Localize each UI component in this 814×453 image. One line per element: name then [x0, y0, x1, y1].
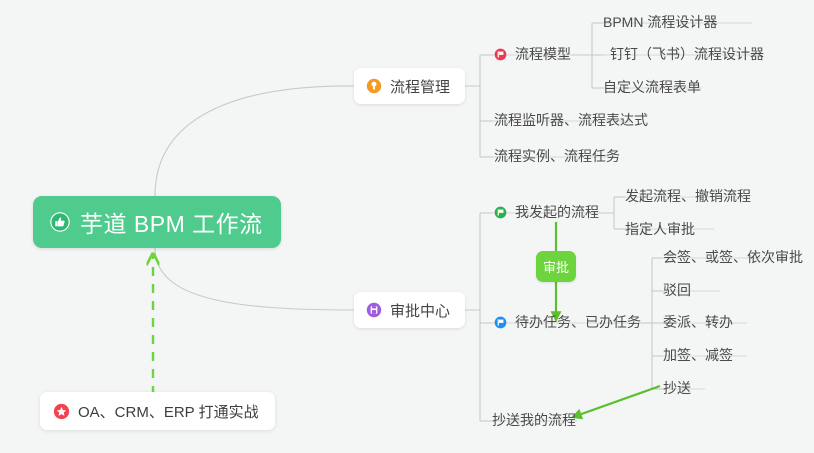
topic-label: 流程模型 [515, 47, 571, 61]
clipboard-icon [366, 302, 382, 318]
topic-label: 发起流程、撤销流程 [625, 189, 751, 203]
topic-cc-my-process[interactable]: 抄送我的流程 [492, 413, 576, 427]
topic-label: BPMN 流程设计器 [603, 15, 717, 29]
topic-process-listener-expression[interactable]: 流程监听器、流程表达式 [494, 113, 648, 127]
topic-countersign-orsign-sequential[interactable]: 会签、或签、依次审批 [663, 250, 803, 264]
branch-label-process-management: 流程管理 [390, 76, 450, 97]
topic-bpmn-designer[interactable]: BPMN 流程设计器 [603, 15, 717, 29]
flag-icon [494, 206, 507, 219]
topic-label: 钉钉（飞书）流程设计器 [610, 47, 764, 61]
topic-label: 我发起的流程 [515, 205, 599, 219]
thumbs-up-icon [50, 212, 70, 232]
branch-node-approval-center[interactable]: 审批中心 [354, 292, 465, 328]
topic-custom-process-form[interactable]: 自定义流程表单 [603, 80, 701, 94]
floating-node-integration[interactable]: OA、CRM、ERP 打通实战 [40, 392, 275, 430]
root-node[interactable]: 芋道 BPM 工作流 [33, 196, 281, 248]
flag-icon [494, 316, 507, 329]
approve-callout[interactable]: 审批 [536, 251, 576, 282]
topic-my-started-process[interactable]: 我发起的流程 [494, 205, 599, 219]
approve-callout-label: 审批 [543, 257, 569, 276]
lightbulb-icon [366, 78, 382, 94]
topic-reject[interactable]: 驳回 [663, 283, 691, 297]
topic-add-remove-sign[interactable]: 加签、减签 [663, 348, 733, 362]
flag-icon [494, 48, 507, 61]
topic-label: 自定义流程表单 [603, 80, 701, 94]
root-label: 芋道 BPM 工作流 [80, 205, 263, 239]
topic-delegate-transfer[interactable]: 委派、转办 [663, 315, 733, 329]
cc-flow-arrow [573, 386, 660, 417]
topic-cc[interactable]: 抄送 [663, 381, 691, 395]
topic-process-model[interactable]: 流程模型 [494, 47, 571, 61]
topic-todo-done-tasks[interactable]: 待办任务、已办任务 [494, 315, 641, 329]
branch-node-process-management[interactable]: 流程管理 [354, 68, 465, 104]
topic-label: 指定人审批 [625, 222, 695, 236]
topic-label: 加签、减签 [663, 348, 733, 362]
topic-process-instance-task[interactable]: 流程实例、流程任务 [494, 149, 620, 163]
branch-label-approval-center: 审批中心 [390, 300, 450, 321]
topic-dingtalk-feishu-designer[interactable]: 钉钉（飞书）流程设计器 [610, 47, 764, 61]
topic-label: 会签、或签、依次审批 [663, 250, 803, 264]
topic-start-cancel-process[interactable]: 发起流程、撤销流程 [625, 189, 751, 203]
mindmap-canvas: 芋道 BPM 工作流 流程管理 审批中心 [0, 0, 814, 453]
topic-assignee-approval[interactable]: 指定人审批 [625, 222, 695, 236]
topic-label: 抄送我的流程 [492, 413, 576, 427]
topic-label: 流程实例、流程任务 [494, 149, 620, 163]
topic-label: 驳回 [663, 283, 691, 297]
topic-label: 抄送 [663, 381, 691, 395]
topic-label: 流程监听器、流程表达式 [494, 113, 648, 127]
topic-label: 待办任务、已办任务 [515, 315, 641, 329]
floating-node-label: OA、CRM、ERP 打通实战 [78, 401, 259, 422]
star-icon [53, 403, 69, 419]
topic-label: 委派、转办 [663, 315, 733, 329]
